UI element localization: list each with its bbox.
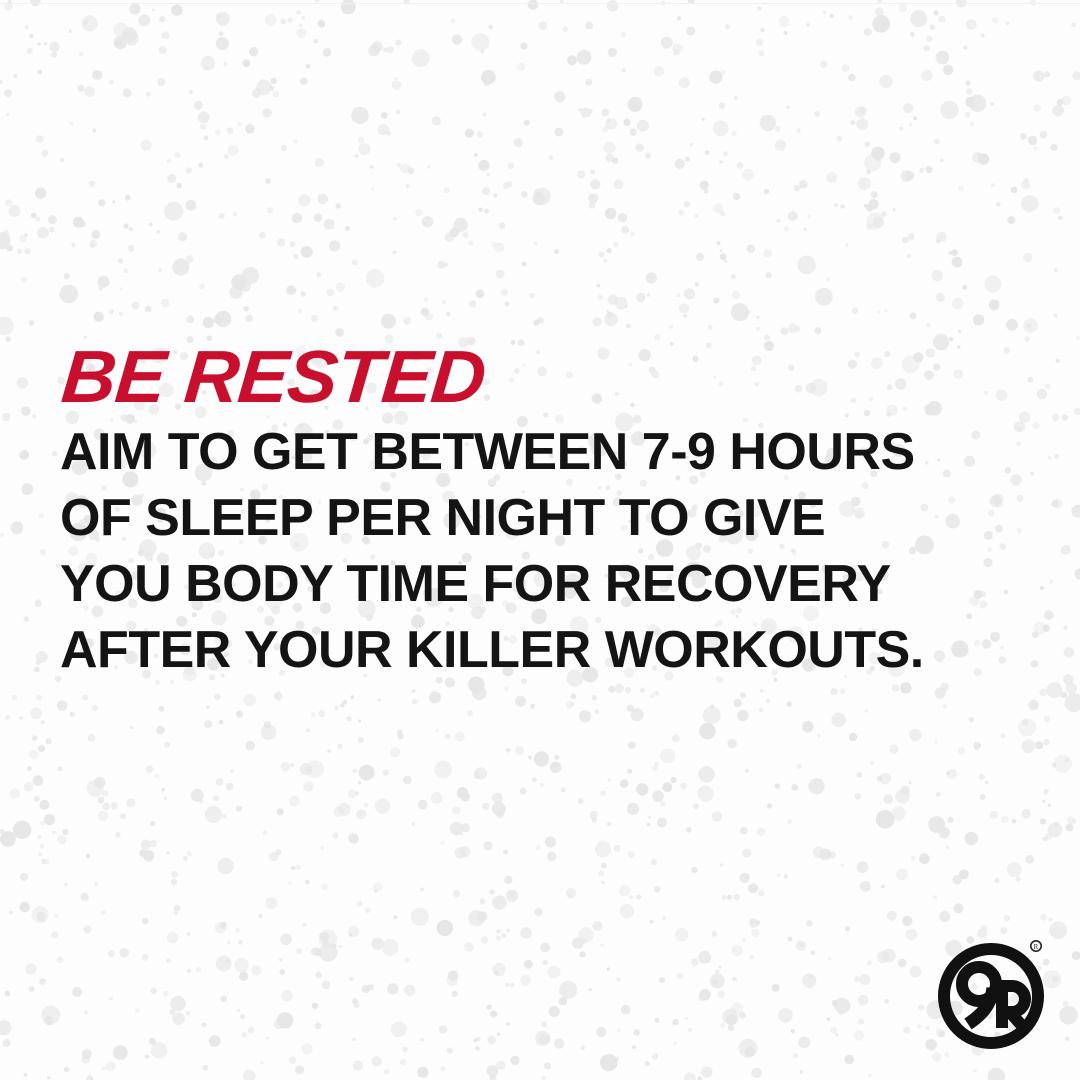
headline-be-rested: BE RESTED — [59, 344, 1042, 411]
svg-text:R: R — [1034, 943, 1039, 951]
poster-canvas: BE RESTED AIM TO GET BETWEEN 7-9 HOURS O… — [0, 0, 1080, 1080]
message-copy-block: BE RESTED AIM TO GET BETWEEN 7-9 HOURS O… — [60, 344, 1020, 683]
registered-trademark-icon: R — [1031, 941, 1041, 951]
top-hairline-divider — [0, 3, 1080, 4]
brand-logo-9r: R — [936, 936, 1054, 1054]
body-line-1: AIM TO GET BETWEEN 7-9 HOURS — [60, 419, 1020, 485]
body-text-lines: AIM TO GET BETWEEN 7-9 HOURS OF SLEEP PE… — [60, 419, 1020, 683]
body-line-4: AFTER YOUR KILLER WORKOUTS. — [60, 617, 1020, 683]
body-line-3: YOU BODY TIME FOR RECOVERY — [60, 551, 1020, 617]
body-line-2: OF SLEEP PER NIGHT TO GIVE — [60, 485, 1020, 551]
